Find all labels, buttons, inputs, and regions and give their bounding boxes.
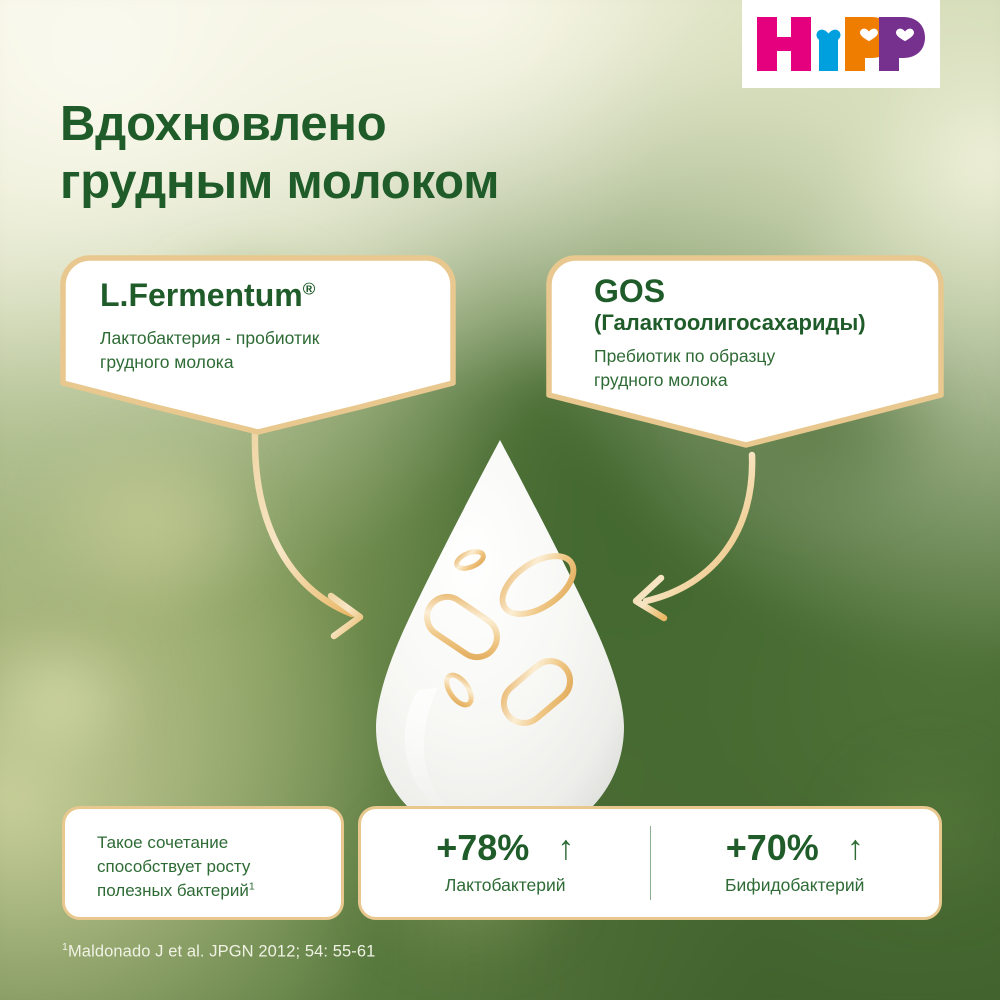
card-title: GOS [594,275,934,308]
stat-label: Бифидобактерий [725,875,864,896]
stat-lactobacteria: +78% ↑ Лактобактерий [361,809,650,917]
footnote: 1Maldonado J et al. JPGN 2012; 54: 55-61 [62,941,375,962]
card-statistics: +78% ↑ Лактобактерий +70% ↑ Бифидобактер… [358,806,942,920]
infographic-canvas: Вдохновлено грудным молоком [0,0,1000,1000]
footnote-text: Maldonado J et al. JPGN 2012; 54: 55-61 [68,943,376,961]
note-line-3-text: полезных бактерий [97,881,249,900]
card-description-line-2: грудного молока [594,368,934,392]
page-title-line-1: Вдохновлено [60,96,680,154]
card-gos: GOS (Галактоолигосахариды) Пребиотик по … [546,255,944,448]
card-description: Пребиотик по образцу грудного молока [594,344,934,392]
stat-label: Лактобактерий [445,875,566,896]
hipp-logo [742,0,940,88]
stat-value-row: +78% ↑ [436,830,574,866]
page-title-line-2: грудным молоком [60,154,680,212]
note-line-2: способствует росту [97,855,327,879]
stats-divider [650,826,651,900]
card-description-line-1: Пребиотик по образцу [594,344,934,368]
hipp-logo-icon [755,13,927,75]
card-title-text: L.Fermentum [100,277,303,313]
note-line-1: Такое сочетание [97,831,327,855]
card-combination-note: Такое сочетание способствует росту полез… [62,806,344,920]
card-description-line-2: грудного молока [100,350,430,374]
footnote-ref: 1 [249,881,255,893]
card-l-fermentum: L.Fermentum® Лактобактерия - пробиотик г… [60,255,456,435]
stat-bifidobacteria: +70% ↑ Бифидобактерий [651,809,940,917]
page-title: Вдохновлено грудным молоком [60,96,680,212]
registered-trademark-icon: ® [303,279,316,298]
arrow-up-icon: ↑ [847,831,864,865]
note-line-3: полезных бактерий1 [97,879,327,903]
combination-note-text: Такое сочетание способствует росту полез… [97,831,327,903]
stat-value: +78% [436,830,529,866]
card-description-line-1: Лактобактерия - пробиотик [100,326,430,350]
card-title: L.Fermentum® [100,279,430,311]
arrow-up-icon: ↑ [557,831,574,865]
card-description: Лактобактерия - пробиотик грудного молок… [100,326,430,374]
card-subtitle: (Галактоолигосахариды) [594,310,934,335]
stat-value: +70% [726,830,819,866]
stat-value-row: +70% ↑ [726,830,864,866]
